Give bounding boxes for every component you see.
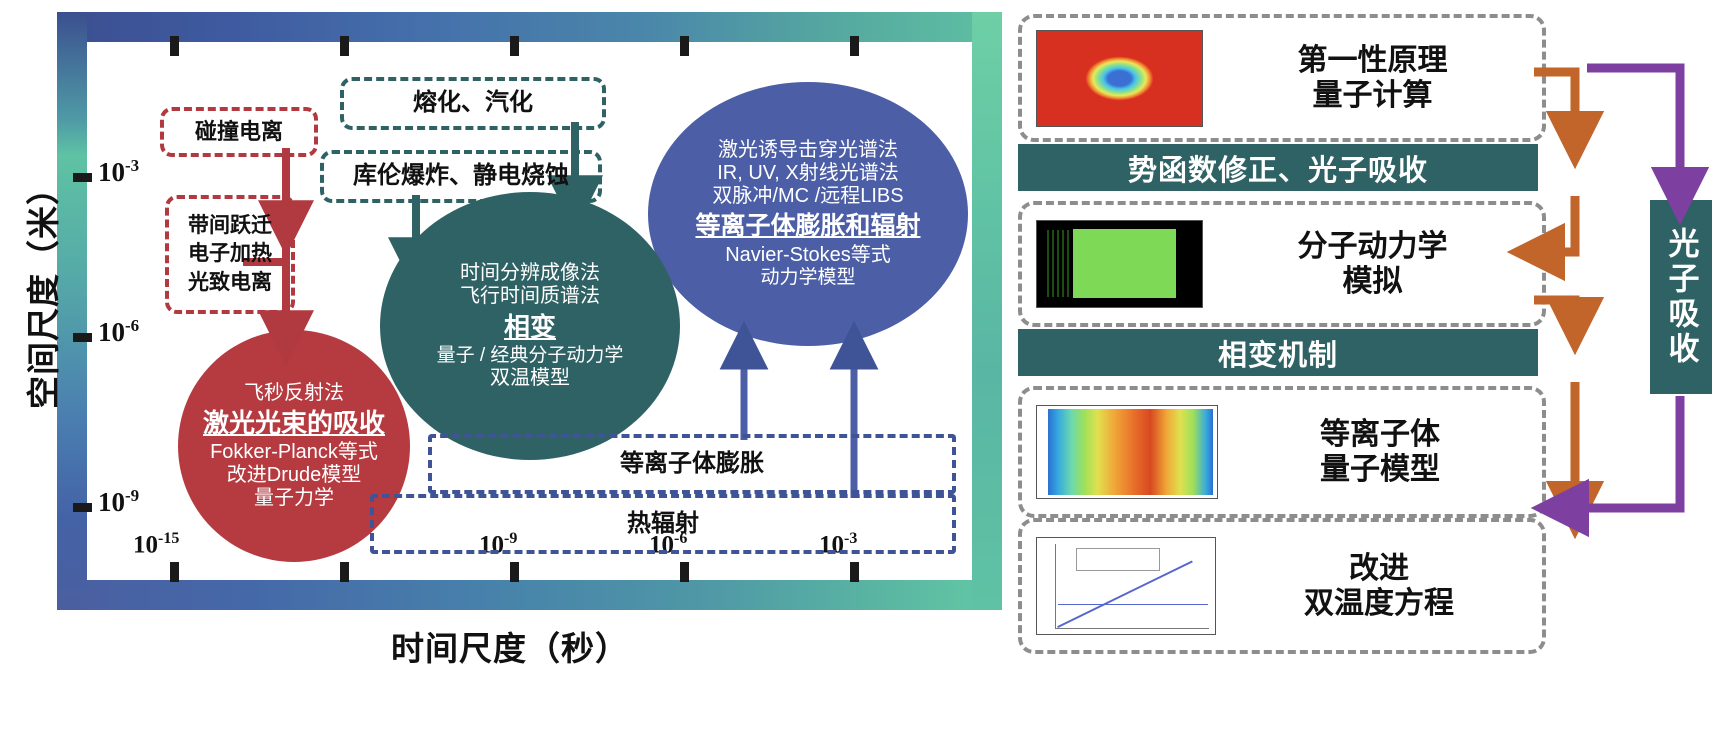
scale-diagram-panel: 空间尺度（米） 10-3 10-6 10-9 10-15 10-12 10-9 …	[0, 0, 1000, 735]
methods-panel: 第一性原理 量子计算 势函数修正、光子吸收 分子动力学 模拟 相变机制 等离子体…	[1004, 0, 1731, 735]
callout-collision-ionization[interactable]: 碰撞电离	[160, 107, 318, 157]
flow-arrows	[1004, 0, 1731, 735]
callout-thermal-radiation[interactable]: 热辐射	[370, 494, 956, 554]
callout-interband-transition[interactable]: 带间跃迁 电子加热 光致电离	[165, 195, 295, 314]
callout-melting-vaporization[interactable]: 熔化、汽化	[340, 77, 606, 130]
callout-line-1: 电子加热	[188, 240, 272, 268]
callout-line-2: 光致电离	[188, 269, 272, 297]
callout-plasma-expansion[interactable]: 等离子体膨胀	[428, 434, 956, 494]
callout-line-0: 带间跃迁	[188, 212, 272, 240]
callout-coulomb-explosion[interactable]: 库伦爆炸、静电烧蚀	[320, 150, 602, 203]
